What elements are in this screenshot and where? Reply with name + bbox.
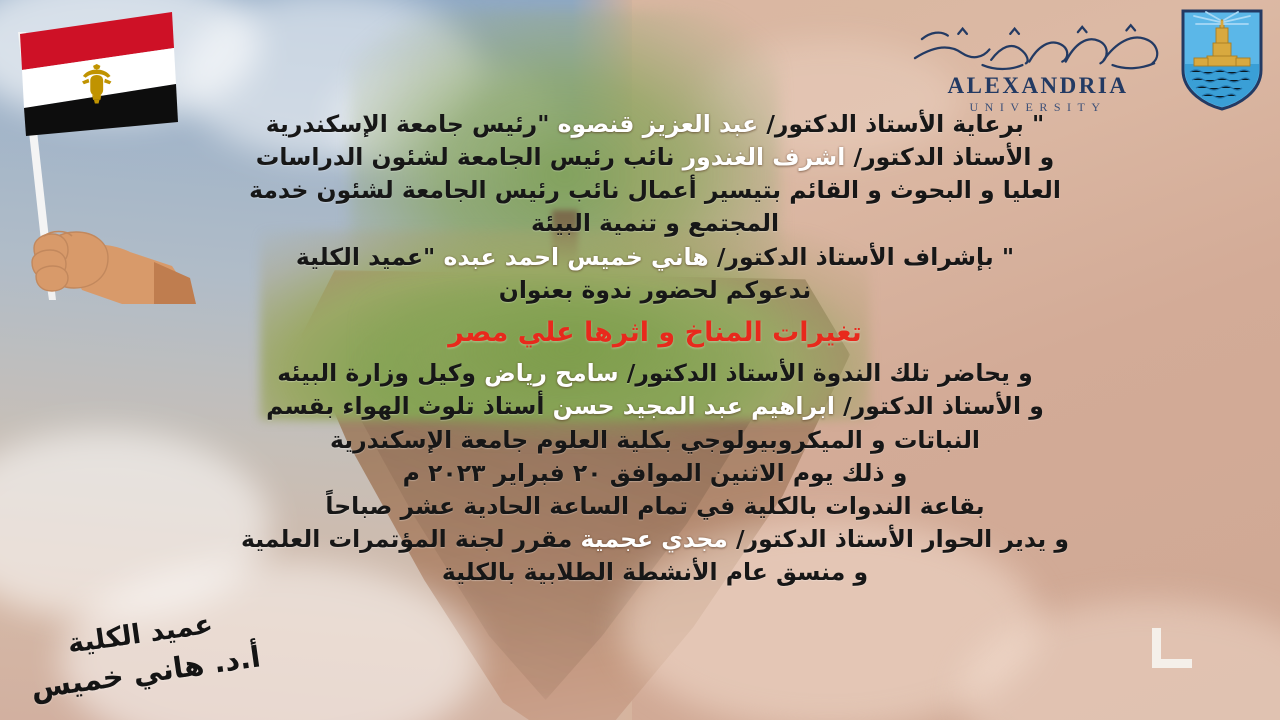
text-segment: بقاعة الندوات بالكلية في تمام الساعة الح… bbox=[325, 492, 984, 520]
text-segment: نائب رئيس الجامعة لشئون الدراسات bbox=[256, 143, 683, 171]
text-segment: "عميد الكلية bbox=[296, 243, 444, 271]
text-line: المجتمع و تنمية البيئة bbox=[120, 207, 1190, 240]
text-segment: " بإشراف الأستاذ الدكتور/ bbox=[709, 243, 1014, 271]
text-segment: مقرر لجنة المؤتمرات العلمية bbox=[241, 525, 581, 553]
text-line: ندعوكم لحضور ندوة بعنوان bbox=[120, 274, 1190, 307]
logo-english-name: ALEXANDRIA bbox=[908, 74, 1168, 97]
highlighted-person-name: عبد العزيز قنصوه bbox=[558, 110, 759, 138]
text-line: النباتات و الميكروبيولوجي بكلية العلوم ج… bbox=[120, 424, 1190, 457]
text-line: و يحاضر تلك الندوة الأستاذ الدكتور/ سامح… bbox=[120, 357, 1190, 390]
text-segment: المجتمع و تنمية البيئة bbox=[531, 209, 779, 237]
logo-text-block: ALEXANDRIA UNIVERSITY bbox=[908, 8, 1168, 115]
intro-lines-block: " برعاية الأستاذ الدكتور/ عبد العزيز قنص… bbox=[120, 108, 1190, 307]
text-segment: و الأستاذ الدكتور/ bbox=[835, 392, 1044, 420]
text-segment: العليا و البحوث و القائم بتيسير أعمال نا… bbox=[249, 176, 1061, 204]
corner-bracket-icon bbox=[1152, 628, 1192, 668]
logo-arabic-calligraphy-icon bbox=[908, 20, 1168, 72]
text-line: و منسق عام الأنشطة الطلابية بالكلية bbox=[120, 556, 1190, 589]
text-segment: أستاذ تلوث الهواء بقسم bbox=[266, 392, 552, 420]
text-segment: "رئيس جامعة الإسكندرية bbox=[266, 110, 558, 138]
text-segment: النباتات و الميكروبيولوجي بكلية العلوم ج… bbox=[330, 426, 980, 454]
alexandria-university-logo: ALEXANDRIA UNIVERSITY bbox=[908, 8, 1264, 115]
text-line: " برعاية الأستاذ الدكتور/ عبد العزيز قنص… bbox=[120, 108, 1190, 141]
highlighted-person-name: هاني خميس احمد عبده bbox=[443, 243, 708, 271]
alexandria-lighthouse-crest-icon bbox=[1180, 8, 1264, 112]
text-line: بقاعة الندوات بالكلية في تمام الساعة الح… bbox=[120, 490, 1190, 523]
text-segment: ندعوكم لحضور ندوة بعنوان bbox=[499, 276, 811, 304]
text-segment: و يدير الحوار الأستاذ الدكتور/ bbox=[728, 525, 1069, 553]
text-line: العليا و البحوث و القائم بتيسير أعمال نا… bbox=[120, 174, 1190, 207]
text-line: و الأستاذ الدكتور/ ابراهيم عبد المجيد حس… bbox=[120, 390, 1190, 423]
poster-body-text: " برعاية الأستاذ الدكتور/ عبد العزيز قنص… bbox=[120, 108, 1190, 589]
highlighted-person-name: مجدي عجمية bbox=[580, 525, 727, 553]
text-line: " بإشراف الأستاذ الدكتور/ هاني خميس احمد… bbox=[120, 241, 1190, 274]
highlighted-person-name: ابراهيم عبد المجيد حسن bbox=[553, 392, 835, 420]
speaker-lines-block: و يحاضر تلك الندوة الأستاذ الدكتور/ سامح… bbox=[120, 357, 1190, 589]
poster-canvas: ALEXANDRIA UNIVERSITY bbox=[0, 0, 1280, 720]
text-segment: وكيل وزارة البيئه bbox=[277, 359, 484, 387]
seminar-title: تغيرات المناخ و اثرها علي مصر bbox=[120, 313, 1190, 354]
text-segment: " برعاية الأستاذ الدكتور/ bbox=[758, 110, 1044, 138]
text-segment: و يحاضر تلك الندوة الأستاذ الدكتور/ bbox=[619, 359, 1033, 387]
text-line: و ذلك يوم الاثنين الموافق ٢٠ فبراير ٢٠٢٣… bbox=[120, 457, 1190, 490]
highlighted-person-name: سامح رياض bbox=[484, 359, 618, 387]
text-segment: و منسق عام الأنشطة الطلابية بالكلية bbox=[442, 558, 868, 586]
text-segment: و ذلك يوم الاثنين الموافق ٢٠ فبراير ٢٠٢٣… bbox=[403, 459, 908, 487]
text-segment: و الأستاذ الدكتور/ bbox=[845, 143, 1054, 171]
text-line: و يدير الحوار الأستاذ الدكتور/ مجدي عجمي… bbox=[120, 523, 1190, 556]
highlighted-person-name: اشرف الغندور bbox=[683, 143, 846, 171]
text-line: و الأستاذ الدكتور/ اشرف الغندور نائب رئي… bbox=[120, 141, 1190, 174]
